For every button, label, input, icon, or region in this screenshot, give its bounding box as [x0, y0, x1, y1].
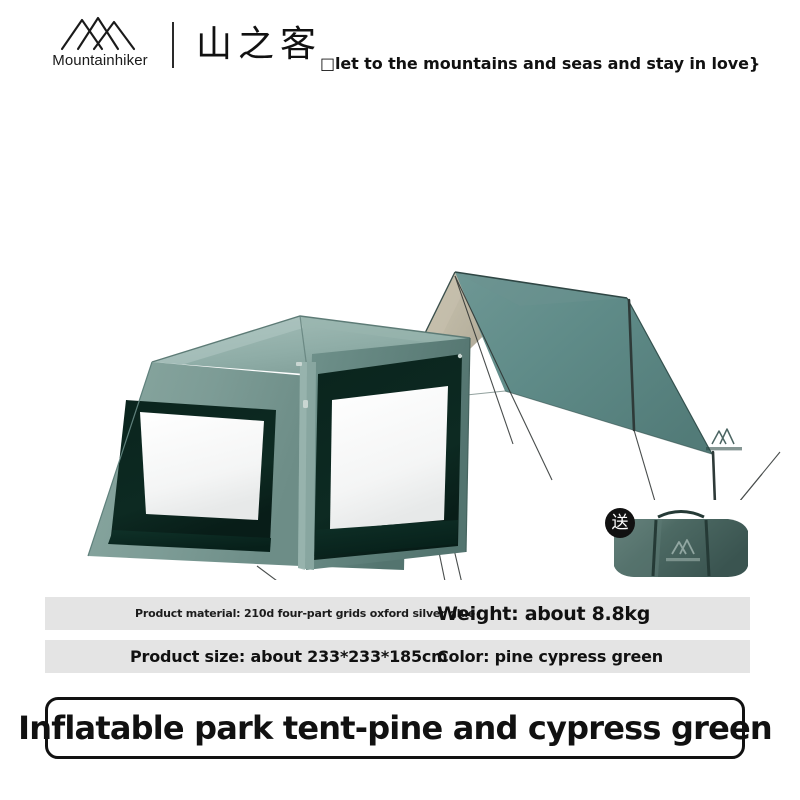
- tent-right-wall: [300, 338, 470, 570]
- mountain-peaks-icon: [58, 14, 138, 52]
- spec-weight-cell: Weight: about 8.8kg: [437, 597, 650, 630]
- brand-name-text: Mountainhiker: [30, 52, 170, 69]
- spec-color-label: Color: pine cypress green: [437, 647, 663, 666]
- spec-row-2: Product size: about 233*233*185cm Color:…: [45, 640, 750, 673]
- spec-material-cell: Product material: 210d four-part grids o…: [135, 597, 475, 630]
- vertical-divider: [172, 22, 174, 68]
- gift-badge: 送: [605, 508, 635, 538]
- brand-tagline: □let to the mountains and seas and stay …: [320, 54, 760, 73]
- included-carry-bag-inset: 送: [600, 500, 760, 590]
- spec-size-label: Product size: about 233*233*185cm: [130, 647, 448, 666]
- spec-row-1: Product material: 210d four-part grids o…: [45, 597, 750, 630]
- tent-corner-post: [298, 362, 316, 570]
- spec-color-cell: Color: pine cypress green: [437, 640, 663, 673]
- spec-size-cell: Product size: about 233*233*185cm: [130, 640, 448, 673]
- spec-material-label: Product material: 210d four-part grids o…: [135, 607, 475, 620]
- brand-logo-block: Mountainhiker: [30, 12, 170, 82]
- tagline-text: let to the mountains and seas and stay i…: [335, 54, 760, 73]
- product-title-banner: Inflatable park tent-pine and cypress gr…: [45, 697, 745, 759]
- brand-name-chinese: 山之客: [196, 24, 322, 66]
- brand-header: Mountainhiker 山之客 □let to the mountains …: [0, 0, 800, 100]
- product-title-text: Inflatable park tent-pine and cypress gr…: [18, 709, 772, 747]
- product-image-page: Mountainhiker 山之客 □let to the mountains …: [0, 0, 800, 800]
- spec-weight-label: Weight: about 8.8kg: [437, 603, 650, 625]
